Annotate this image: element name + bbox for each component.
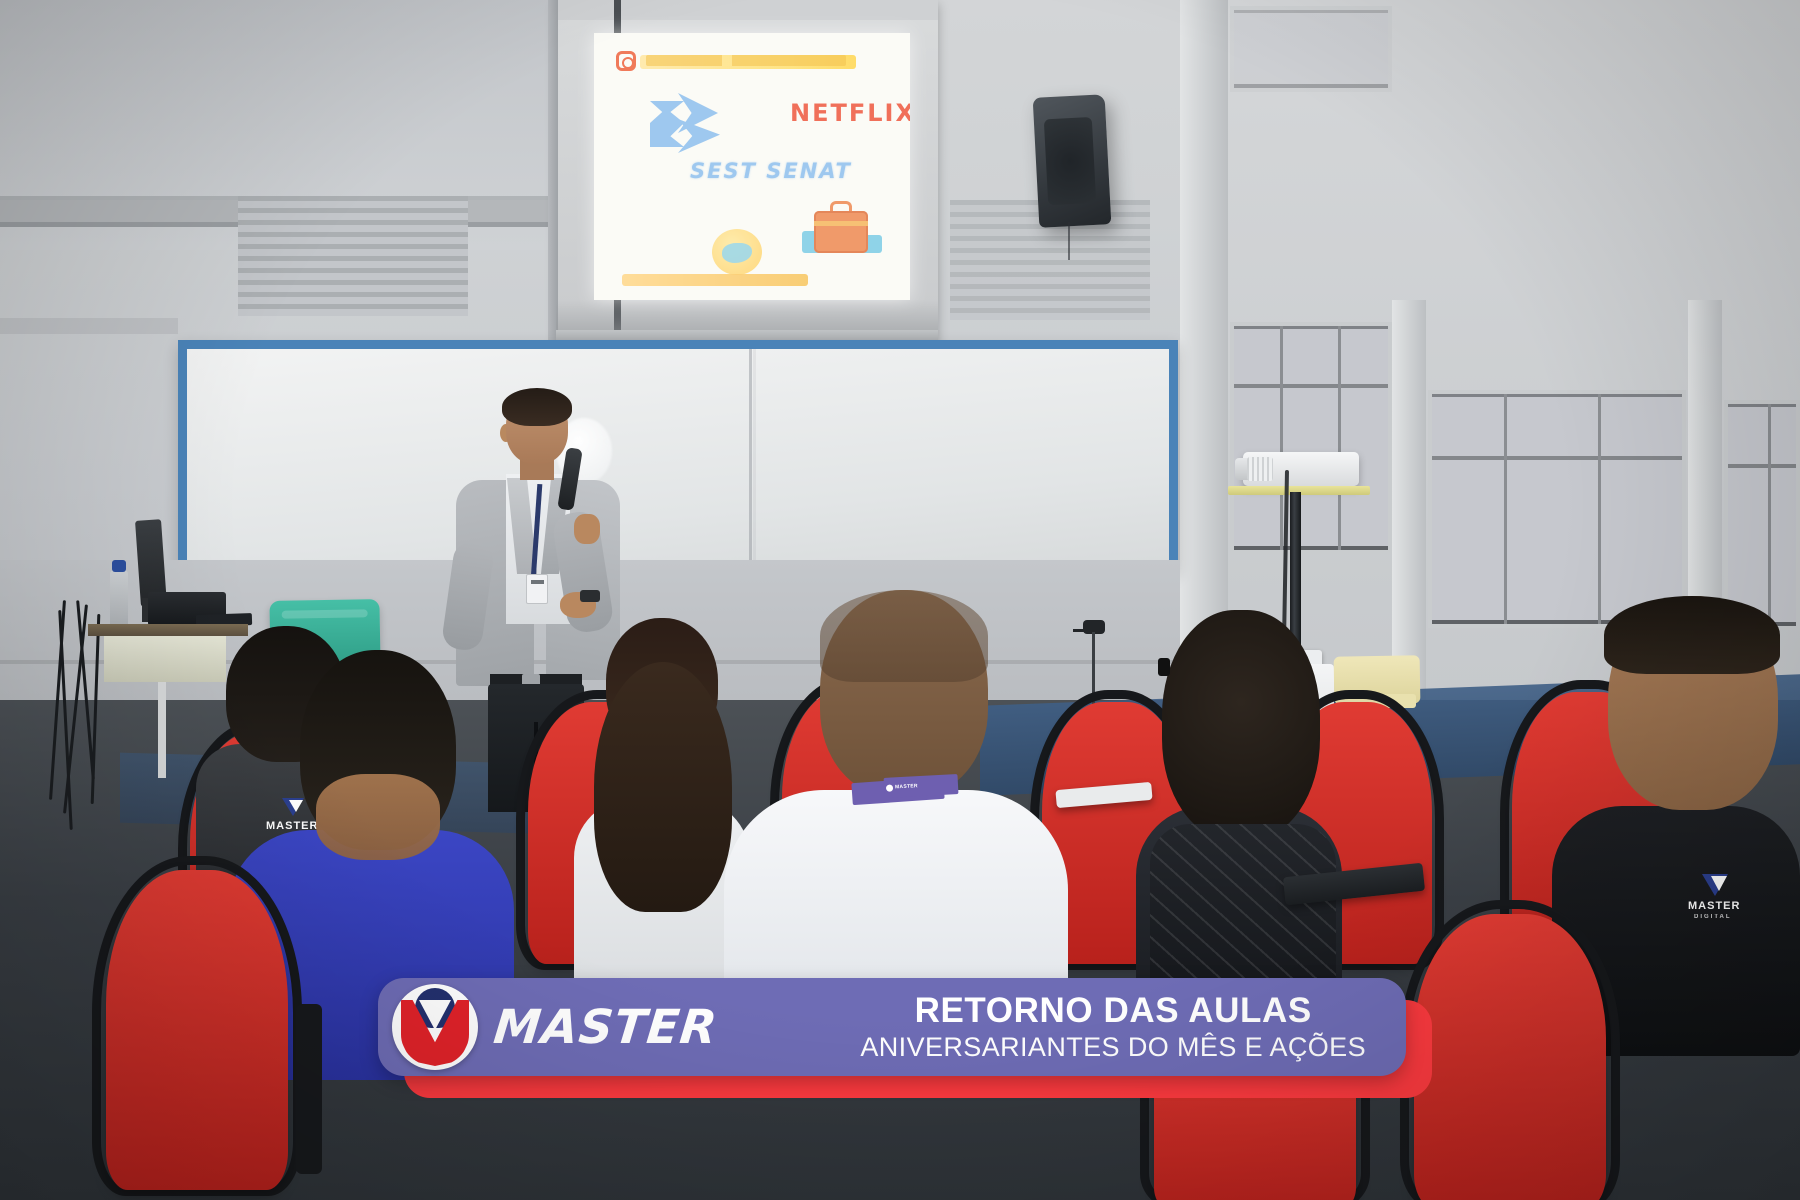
master-logo-circle bbox=[392, 984, 478, 1070]
sest-senat-label: SEST SENAT bbox=[690, 159, 852, 183]
lanyard-badge: MASTER bbox=[884, 774, 959, 798]
suitcase-illustration bbox=[808, 199, 874, 255]
netflix-label: NETFLIX bbox=[790, 99, 910, 127]
person-hair bbox=[1604, 596, 1780, 674]
louver-vent-left bbox=[238, 196, 468, 316]
slide-handle-text bbox=[646, 55, 846, 66]
projector-vent bbox=[1247, 457, 1273, 481]
window-upper bbox=[1230, 6, 1392, 92]
presenter-hair bbox=[502, 388, 572, 426]
chair-arm-left bbox=[296, 1004, 322, 1174]
master-tshirt-text: MASTER bbox=[1688, 900, 1740, 912]
sest-senat-logo-icon bbox=[650, 93, 746, 157]
wall-speaker bbox=[1033, 94, 1112, 228]
globe-illustration bbox=[712, 229, 762, 275]
cable-bundle bbox=[52, 600, 112, 840]
person-head bbox=[1162, 610, 1320, 840]
slide-bottom-bar bbox=[622, 274, 808, 286]
chair-front-left bbox=[106, 870, 288, 1190]
whiteboard bbox=[178, 340, 1178, 570]
bottle-cap bbox=[112, 560, 126, 572]
lanyard-text: MASTER bbox=[895, 783, 918, 790]
projector bbox=[1243, 452, 1359, 486]
presenter-badge bbox=[526, 574, 548, 604]
master-logo-icon bbox=[1702, 874, 1728, 898]
projected-slide: SEST SENAT NETFLIX bbox=[594, 33, 910, 300]
window-1 bbox=[1230, 322, 1392, 554]
master-tshirt-subtext: DIGITAL bbox=[1694, 914, 1732, 920]
chair-front-right-2 bbox=[1414, 914, 1606, 1200]
audience-person-curly-hair bbox=[1136, 610, 1346, 1030]
photo-scene: SEST SENAT NETFLIX bbox=[0, 0, 1800, 1200]
window-2 bbox=[1428, 390, 1686, 628]
banner-text-block: RETORNO DAS AULAS ANIVERSARIANTES DO MÊS… bbox=[860, 993, 1366, 1061]
person-hair bbox=[820, 590, 988, 682]
banner-title: RETORNO DAS AULAS bbox=[860, 993, 1366, 1029]
instagram-icon bbox=[616, 51, 636, 71]
presentation-clicker bbox=[580, 590, 600, 602]
screen-edge-left bbox=[548, 0, 558, 346]
person-neck bbox=[316, 774, 440, 860]
master-wordmark: MASTER bbox=[491, 1000, 720, 1055]
glasses-icon bbox=[1158, 658, 1170, 676]
event-banner: MASTER RETORNO DAS AULAS ANIVERSARIANTES… bbox=[378, 978, 1406, 1076]
person-hair bbox=[594, 662, 732, 912]
master-logo bbox=[392, 984, 478, 1070]
water-bottle bbox=[110, 570, 128, 632]
speaker-wire bbox=[1068, 222, 1070, 260]
wall-band-low bbox=[0, 318, 178, 334]
screen-shadow bbox=[556, 300, 938, 332]
presenter-hand-right bbox=[574, 514, 600, 544]
desk-leg bbox=[158, 682, 166, 778]
banner-subtitle: ANIVERSARIANTES DO MÊS E AÇÕES bbox=[860, 1033, 1366, 1061]
